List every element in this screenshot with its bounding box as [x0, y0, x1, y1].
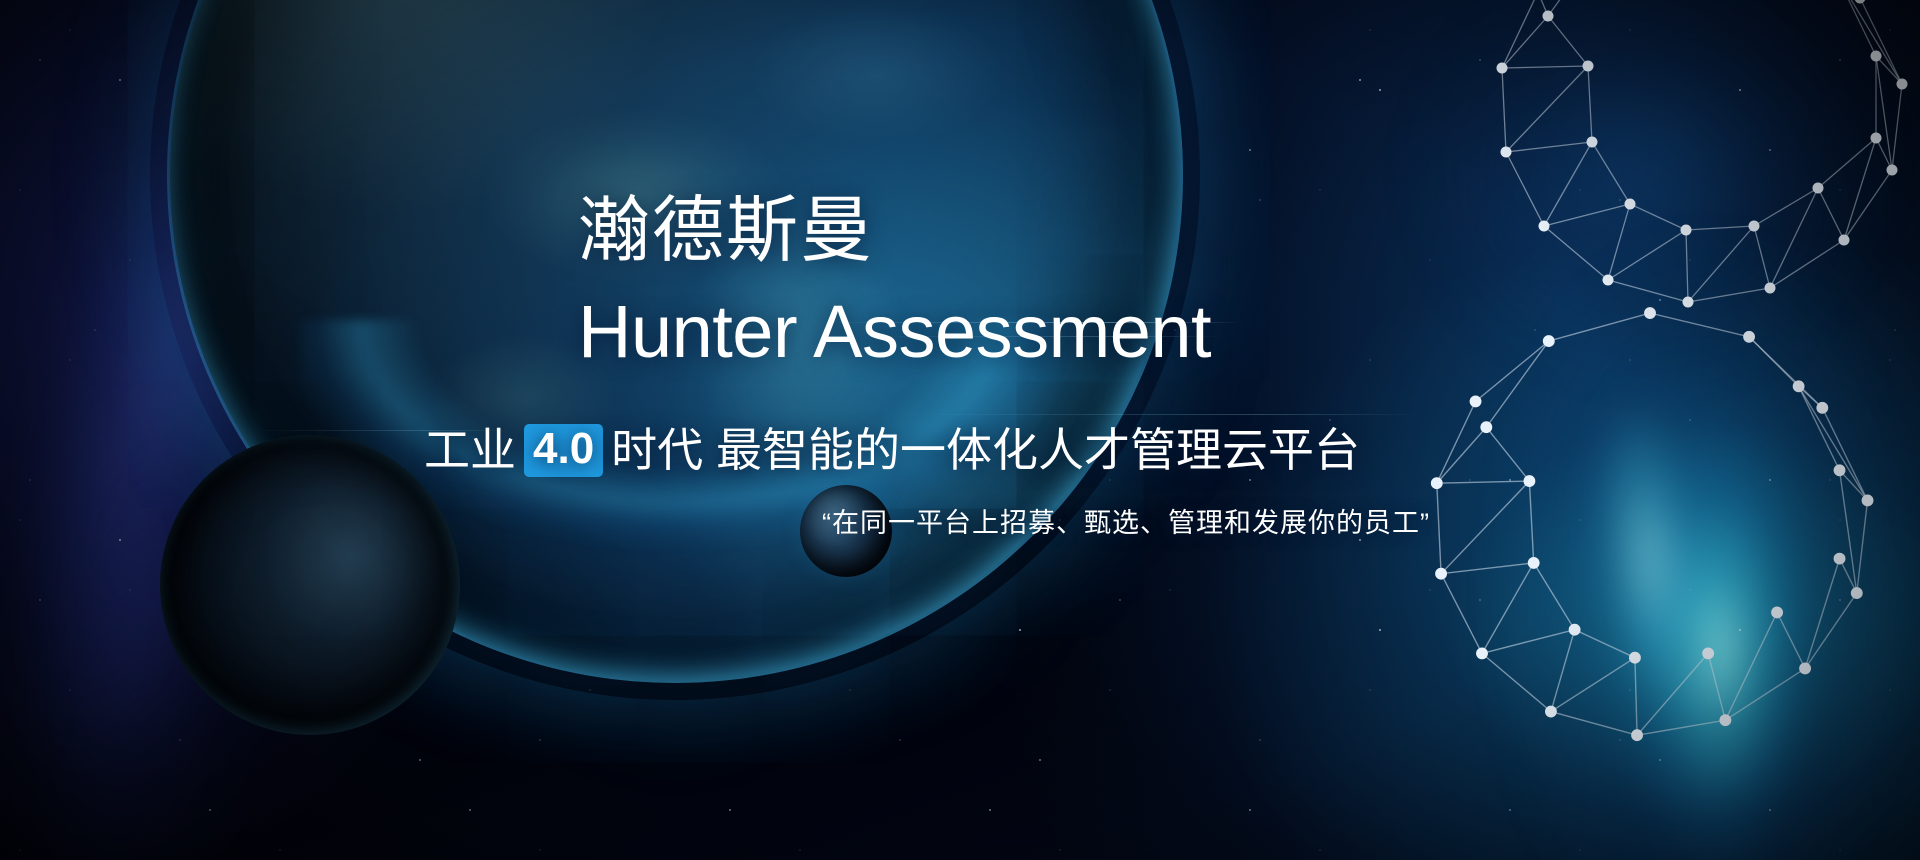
subtitle-suffix: 时代 最智能的一体化人才管理云平台 — [611, 425, 1360, 477]
industry-version-badge: 4.0 — [524, 424, 603, 477]
subtitle-prefix: 工业 — [424, 425, 516, 477]
hero-subtitle: 工业 4.0 时代 最智能的一体化人才管理云平台 — [424, 424, 1360, 477]
brand-title-chinese: 瀚德斯曼 — [578, 195, 874, 267]
hero-content: 瀚德斯曼 Hunter Assessment 工业 4.0 时代 最智能的一体化… — [0, 0, 1920, 860]
hero-banner: 瀚德斯曼 Hunter Assessment 工业 4.0 时代 最智能的一体化… — [0, 0, 1920, 860]
brand-title-english: Hunter Assessment — [578, 295, 1211, 369]
hero-tagline: “在同一平台上招募、甄选、管理和发展你的员工” — [822, 510, 1430, 537]
